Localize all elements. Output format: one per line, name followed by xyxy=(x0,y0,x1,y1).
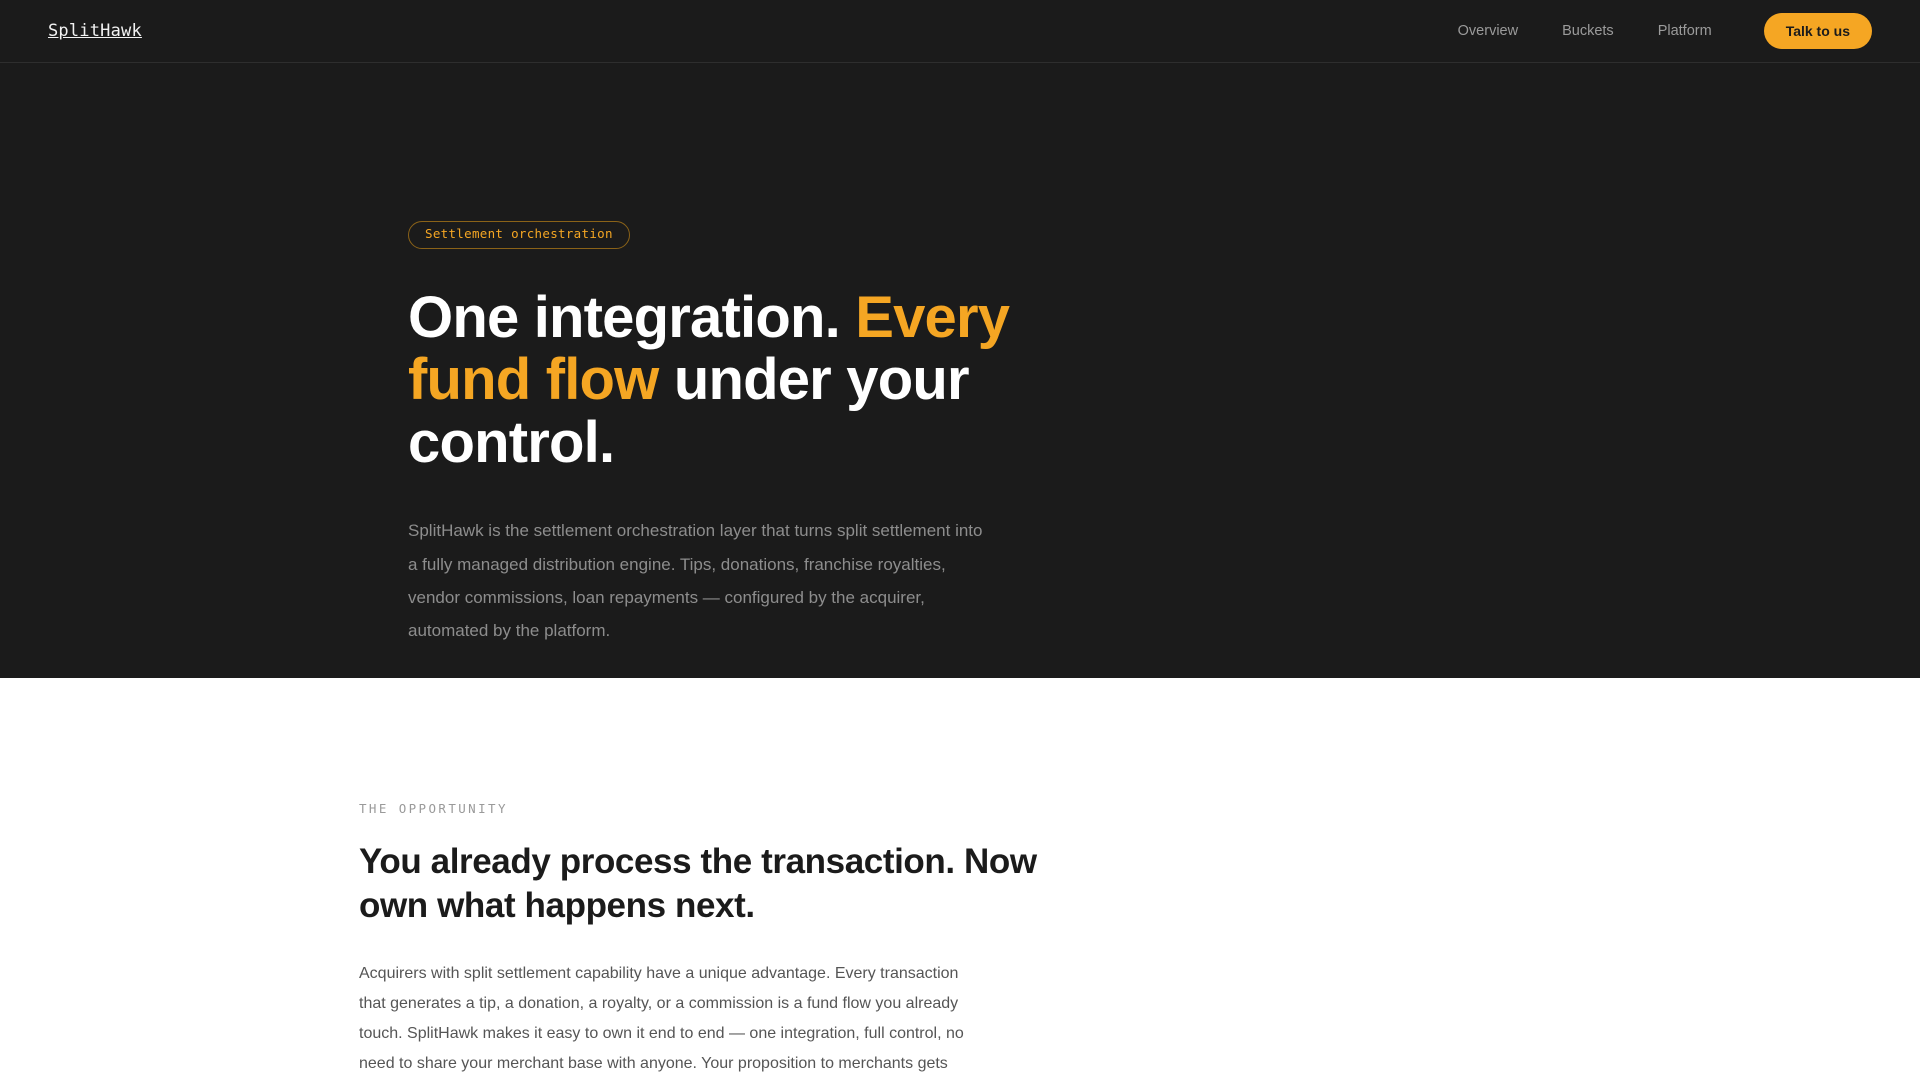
hero-headline-part1: One integration. xyxy=(408,285,855,350)
hero-badge: Settlement orchestration xyxy=(408,221,630,249)
opportunity-content: THE OPPORTUNITY You already process the … xyxy=(359,803,1059,1080)
brand-logo[interactable]: SplitHawk xyxy=(48,21,142,41)
hero-subtitle: SplitHawk is the settlement orchestratio… xyxy=(408,514,988,647)
site-header: SplitHawk Overview Buckets Platform Talk… xyxy=(0,0,1920,63)
hero-headline: One integration. Every fund flow under y… xyxy=(408,287,1098,475)
hero-content: Settlement orchestration One integration… xyxy=(408,221,1168,647)
nav-item-buckets[interactable]: Buckets xyxy=(1562,24,1614,39)
opportunity-title: You already process the transaction. Now… xyxy=(359,840,1049,930)
primary-navigation: Overview Buckets Platform Talk to us xyxy=(1458,13,1872,49)
talk-to-us-button[interactable]: Talk to us xyxy=(1764,13,1872,49)
opportunity-body: Acquirers with split settlement capabili… xyxy=(359,959,979,1080)
opportunity-eyebrow: THE OPPORTUNITY xyxy=(359,803,1059,816)
nav-item-platform[interactable]: Platform xyxy=(1658,24,1712,39)
opportunity-section: THE OPPORTUNITY You already process the … xyxy=(0,678,1920,1080)
nav-item-overview[interactable]: Overview xyxy=(1458,24,1518,39)
hero-section: Settlement orchestration One integration… xyxy=(0,63,1920,678)
